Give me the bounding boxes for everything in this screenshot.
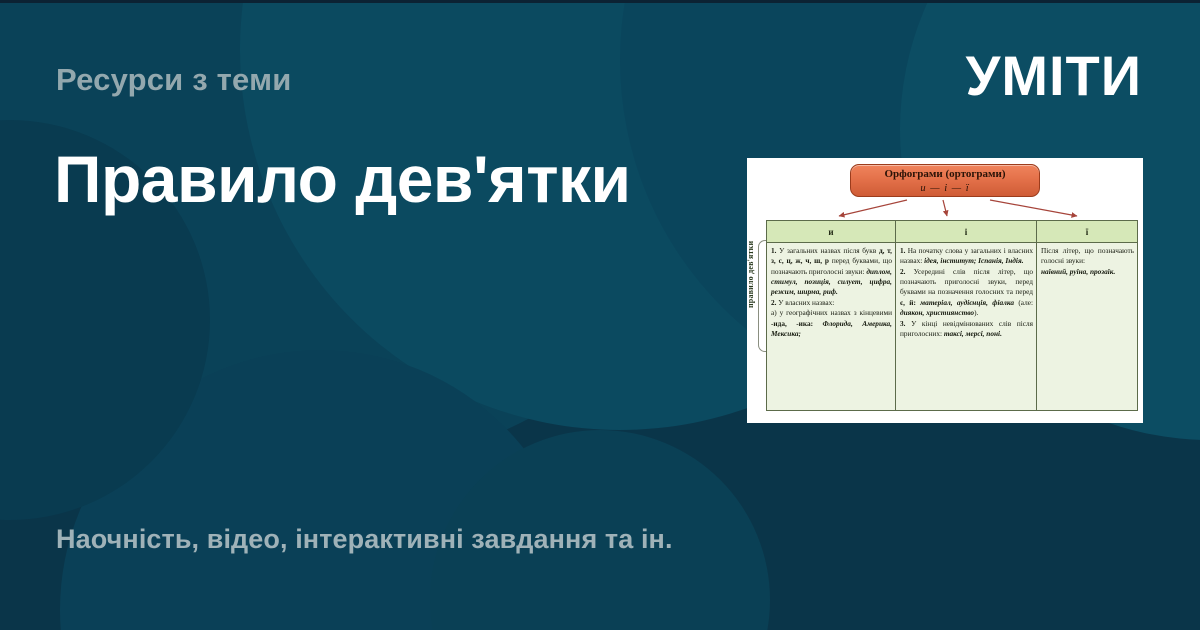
rule-text: Після літер, що позначають голосні звуки… bbox=[1041, 246, 1134, 265]
rule-examples: матеріал, аудієнція, фіалка bbox=[916, 298, 1014, 307]
rule-text: У власних назвах: bbox=[776, 298, 834, 307]
column-header-y: и bbox=[767, 221, 896, 243]
orthogram-table: и і ї 1. У загальних назвах після букв д… bbox=[766, 220, 1138, 411]
rule-text: ). bbox=[974, 308, 978, 317]
rule-letters: є, й: bbox=[900, 298, 916, 307]
brand-logo: УМІТИ bbox=[966, 48, 1143, 104]
rule-text: У загальних назвах після букв bbox=[776, 246, 878, 255]
rule-exceptions: диякон, християнство bbox=[900, 308, 974, 317]
column-header-i: і bbox=[896, 221, 1037, 243]
page-title: Правило дев'ятки bbox=[54, 142, 674, 217]
rule-text: (але: bbox=[1014, 298, 1033, 307]
rule-examples: наївний, руїна, прозаїк. bbox=[1041, 267, 1115, 276]
table-row: 1. У загальних назвах після букв д, т, з… bbox=[767, 243, 1138, 411]
cell-rules-i: 1. На початку слова у загальних і власни… bbox=[896, 243, 1037, 411]
figure-brace bbox=[758, 240, 766, 352]
cell-rules-y: 1. У загальних назвах після букв д, т, з… bbox=[767, 243, 896, 411]
rule-text: а) у географічних назвах з кінцевими bbox=[771, 308, 892, 317]
share-card: Ресурси з теми УМІТИ Правило дев'ятки На… bbox=[0, 0, 1200, 630]
table-header-row: и і ї bbox=[767, 221, 1138, 243]
figure-card: Орфограми (ортограми) и — і — ї правило … bbox=[747, 158, 1143, 423]
rule-examples: таксі, мерсі, поні. bbox=[944, 329, 1002, 338]
rule-suffixes: -ида, -ика: bbox=[771, 319, 813, 328]
rule-examples: ідея, інститут; Іспанія, Індія. bbox=[924, 256, 1023, 265]
rule-text: Усередині слів після літер, що позначают… bbox=[900, 267, 1033, 297]
page-subtitle: Наочність, відео, інтерактивні завдання … bbox=[56, 524, 673, 555]
column-header-yi: ї bbox=[1037, 221, 1138, 243]
figure-arrows bbox=[747, 158, 1143, 228]
cell-rules-yi: Після літер, що позначають голосні звуки… bbox=[1037, 243, 1138, 411]
eyebrow-label: Ресурси з теми bbox=[56, 62, 291, 98]
figure-side-caption: правило дев'ятки bbox=[747, 241, 755, 308]
